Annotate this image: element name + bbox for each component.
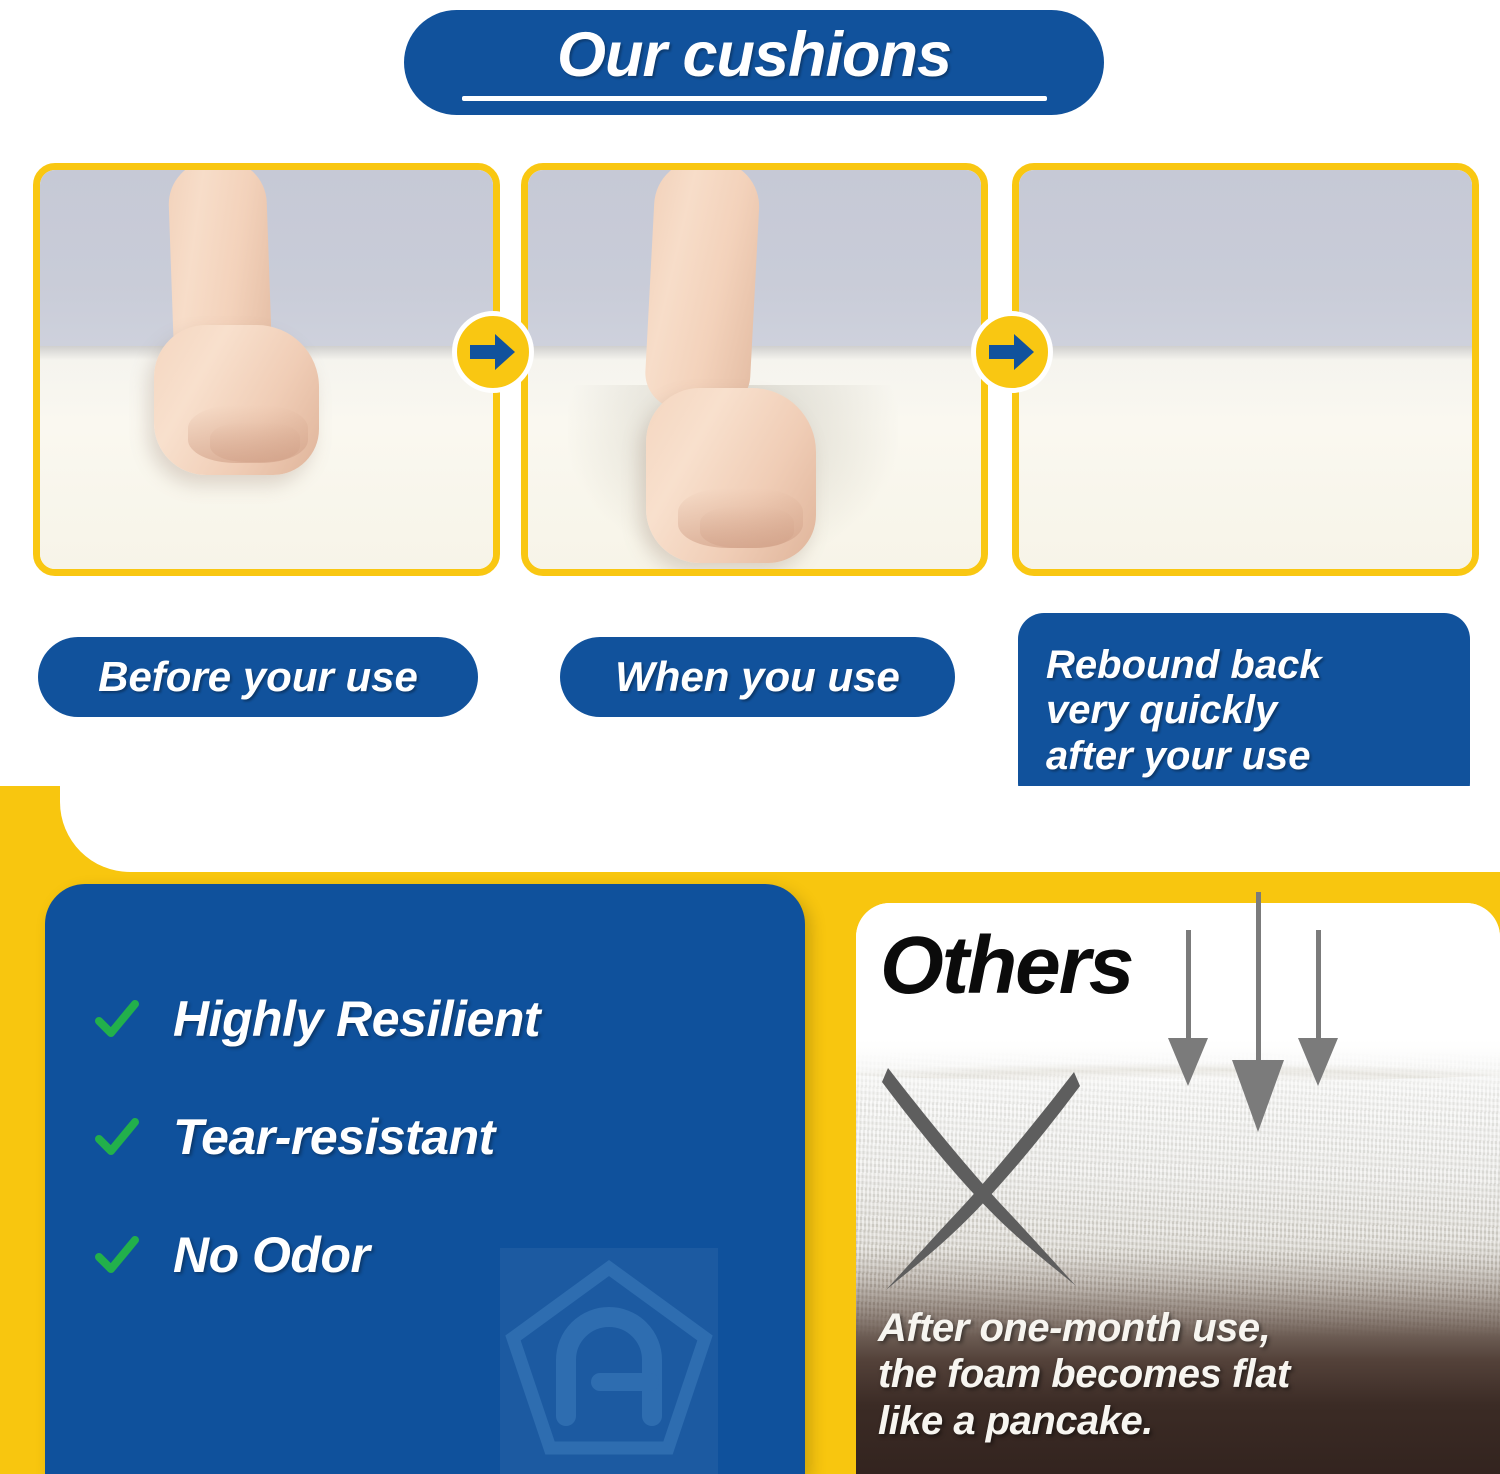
caption-before-your-use: Before your use xyxy=(38,637,478,717)
benefit-item-no-odor: No Odor xyxy=(95,1226,369,1284)
benefit-label: No Odor xyxy=(173,1226,369,1284)
arrow-head xyxy=(1232,1060,1284,1132)
infographic-root: Our cushions xyxy=(0,0,1500,1474)
caption-line: like a pancake. xyxy=(878,1398,1290,1444)
benefit-label: Highly Resilient xyxy=(173,990,540,1048)
x-cross-icon xyxy=(862,1060,1112,1305)
knuckle-shading xyxy=(700,506,794,548)
arrow-right-icon xyxy=(452,311,534,393)
caption-line: After one-month use, xyxy=(878,1305,1290,1351)
arrow-shaft xyxy=(1186,930,1191,1038)
check-icon xyxy=(95,1115,139,1159)
knuckle-shading xyxy=(210,422,300,462)
white-notch-shape xyxy=(60,786,1500,872)
caption-rebound-back: Rebound back very quickly after your use xyxy=(1018,613,1470,809)
foam-edge-shadow xyxy=(528,346,981,360)
header-pill: Our cushions xyxy=(404,10,1104,115)
arrow-head xyxy=(1168,1038,1208,1086)
process-panel-after xyxy=(1012,163,1479,576)
caption-line: the foam becomes flat xyxy=(878,1351,1290,1397)
arrow-head xyxy=(1298,1038,1338,1086)
page-title: Our cushions xyxy=(557,24,951,87)
caption-line: Rebound back xyxy=(1046,643,1322,689)
caption-when-you-use: When you use xyxy=(560,637,955,717)
photo-foam-surface xyxy=(1019,346,1472,569)
arrow-down-icon xyxy=(1298,930,1338,1086)
arrow-shaft xyxy=(1256,892,1261,1060)
pentagon-a-logo-icon xyxy=(500,1248,718,1474)
fist-on-foam-photo xyxy=(40,170,493,569)
benefit-label: Tear-resistant xyxy=(173,1108,495,1166)
benefit-item-highly-resilient: Highly Resilient xyxy=(95,990,540,1048)
arrow-right-icon xyxy=(971,311,1053,393)
check-icon xyxy=(95,997,139,1041)
arrow-down-icon xyxy=(1232,892,1284,1132)
process-panel-before xyxy=(33,163,500,576)
forearm-shape xyxy=(644,170,762,413)
title-underline xyxy=(462,96,1047,101)
fist-pressing-foam-photo xyxy=(528,170,981,569)
flat-restored-foam-photo xyxy=(1019,170,1472,569)
arrow-shaft xyxy=(1316,930,1321,1038)
caption-line: after your use xyxy=(1046,734,1311,780)
others-caption: After one-month use, the foam becomes fl… xyxy=(878,1305,1290,1444)
caption-line: very quickly xyxy=(1046,688,1277,734)
benefit-item-tear-resistant: Tear-resistant xyxy=(95,1108,495,1166)
check-icon xyxy=(95,1233,139,1277)
process-panel-during xyxy=(521,163,988,576)
foam-edge-shadow xyxy=(1019,346,1472,360)
others-title: Others xyxy=(880,925,1132,1007)
arrow-down-icon xyxy=(1168,930,1208,1086)
photo-background-wall xyxy=(1019,170,1472,358)
